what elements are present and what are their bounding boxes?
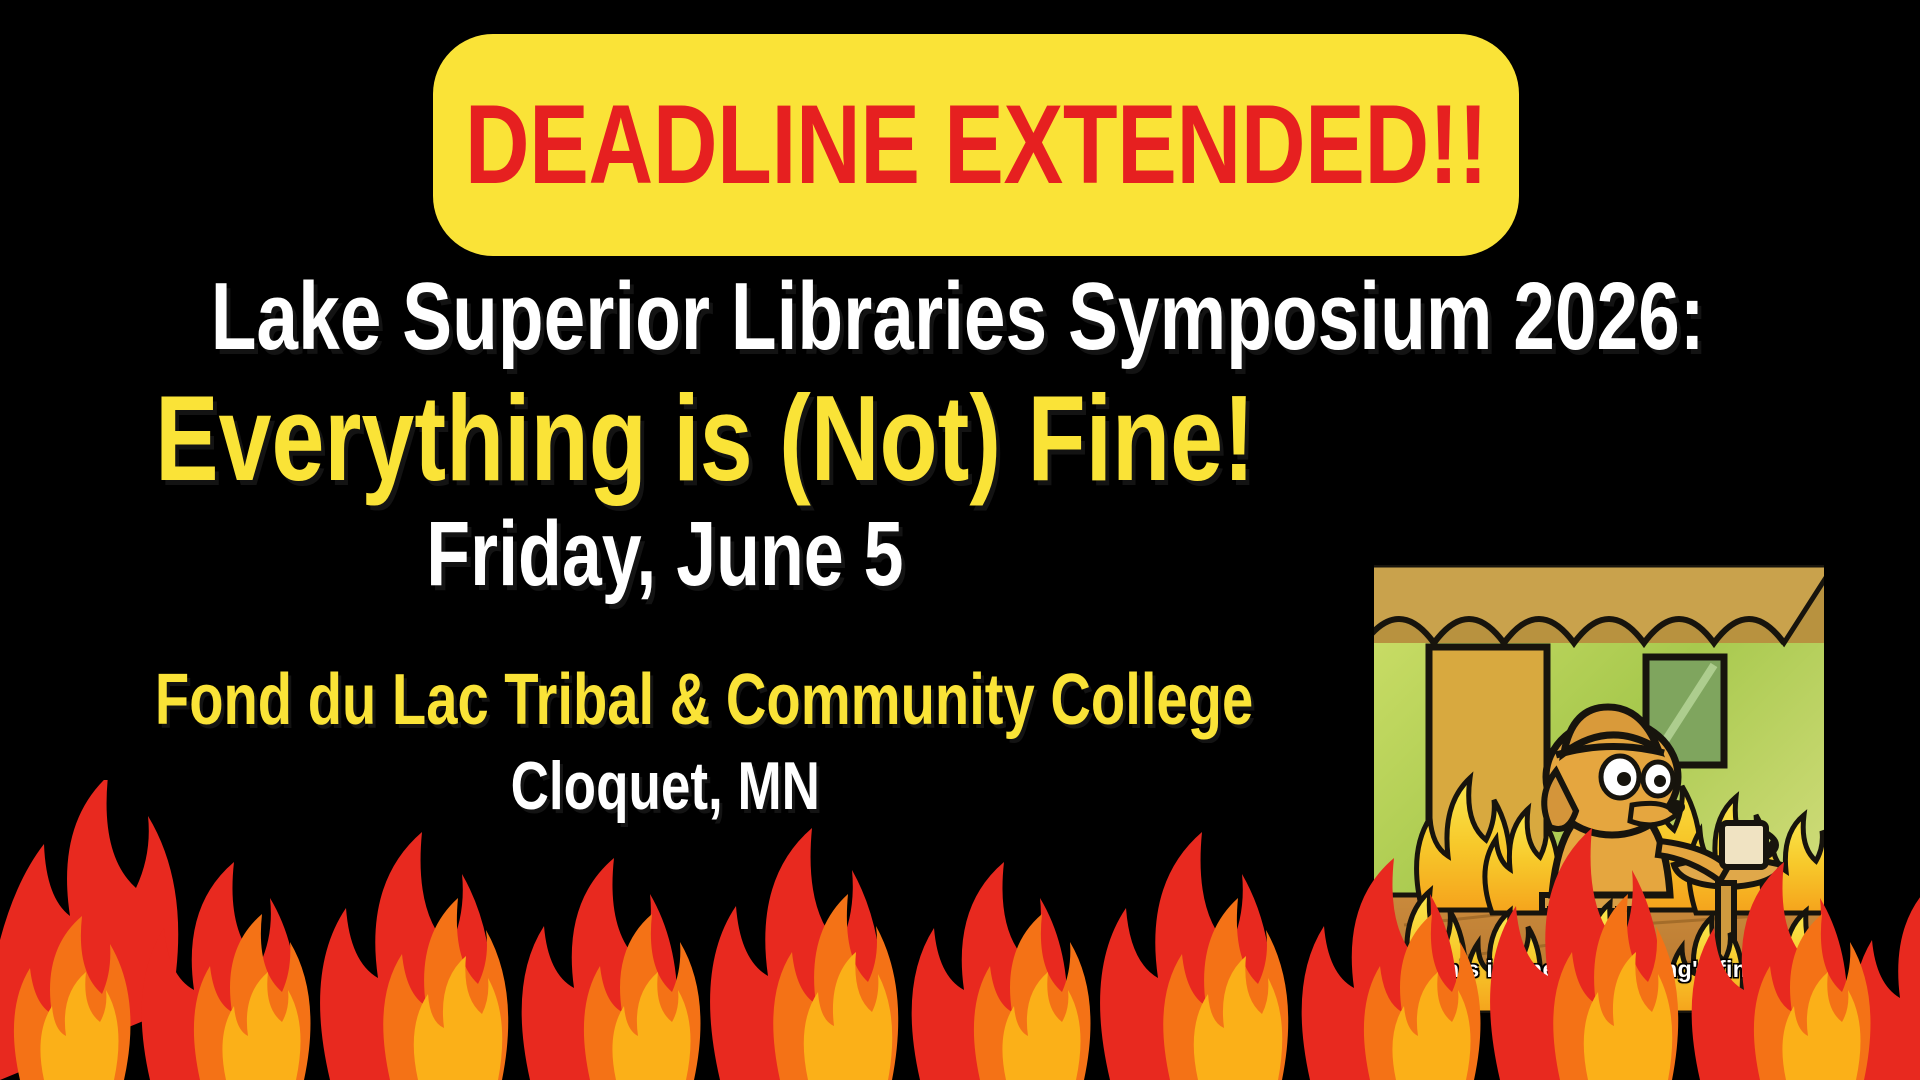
this-is-fine-illustration	[1374, 565, 1824, 1013]
deadline-banner-label: DEADLINE EXTENDED!!	[465, 89, 1488, 201]
event-city-text: Cloquet, MN	[510, 752, 819, 821]
symposium-title: Lake Superior Libraries Symposium 2026:	[0, 268, 1330, 366]
promo-poster: DEADLINE EXTENDED!! Lake Superior Librar…	[0, 0, 1920, 1080]
event-date: Friday, June 5	[0, 508, 1330, 602]
event-date-text: Friday, June 5	[426, 508, 903, 602]
theme-title: Everything is (Not) Fine!	[0, 376, 1330, 500]
headline-stack: Lake Superior Libraries Symposium 2026: …	[0, 268, 1330, 821]
event-city: Cloquet, MN	[0, 752, 1330, 821]
theme-title-text: Everything is (Not) Fine!	[155, 376, 1255, 500]
symposium-title-text: Lake Superior Libraries Symposium 2026:	[211, 268, 1705, 366]
event-venue: Fond du Lac Tribal & Community College	[0, 664, 1330, 737]
this-is-fine-meme: This is fine. Everything's fine.	[1374, 565, 1824, 1013]
deadline-banner: DEADLINE EXTENDED!!	[433, 34, 1519, 256]
event-venue-text: Fond du Lac Tribal & Community College	[155, 664, 1253, 737]
meme-caption: This is fine. Everything's fine.	[1374, 956, 1824, 983]
